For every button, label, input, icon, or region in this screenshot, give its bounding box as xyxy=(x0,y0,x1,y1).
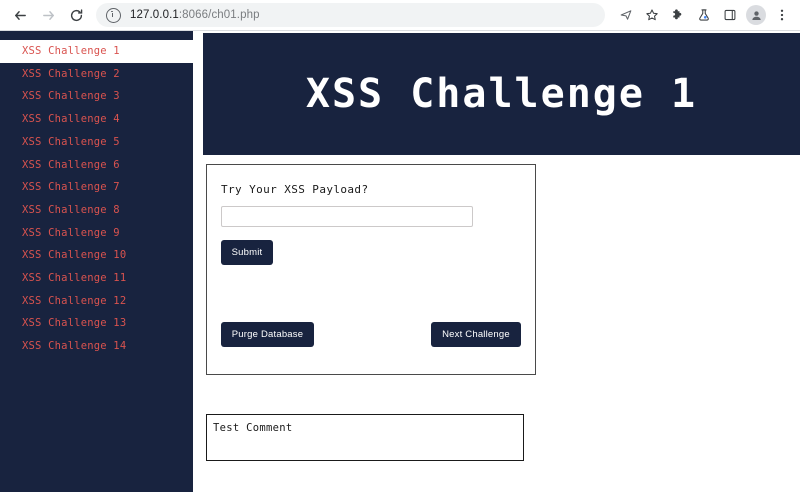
extensions-puzzle-icon[interactable] xyxy=(665,2,691,28)
avatar xyxy=(746,5,766,25)
sidebar-item-challenge-8[interactable]: XSS Challenge 8 xyxy=(0,199,193,222)
sidebar-item-challenge-11[interactable]: XSS Challenge 11 xyxy=(0,267,193,290)
sidebar-item-challenge-4[interactable]: XSS Challenge 4 xyxy=(0,108,193,131)
payload-form-label: Try Your XSS Payload? xyxy=(221,183,521,196)
browser-toolbar: 127.0.0.1:8066/ch01.php xyxy=(0,0,800,31)
form-action-row: Purge Database Next Challenge xyxy=(221,322,521,347)
forward-arrow-icon[interactable] xyxy=(34,1,62,29)
payload-input[interactable] xyxy=(221,206,473,227)
share-icon[interactable] xyxy=(613,2,639,28)
sidebar: XSS Challenge 1 XSS Challenge 2 XSS Chal… xyxy=(0,31,193,492)
sidebar-item-challenge-5[interactable]: XSS Challenge 5 xyxy=(0,131,193,154)
back-arrow-icon[interactable] xyxy=(6,1,34,29)
reload-icon[interactable] xyxy=(62,1,90,29)
bookmark-star-icon[interactable] xyxy=(639,2,665,28)
chrome-menu-icon[interactable] xyxy=(769,2,795,28)
sidebar-item-challenge-12[interactable]: XSS Challenge 12 xyxy=(0,290,193,313)
sidebar-item-challenge-10[interactable]: XSS Challenge 10 xyxy=(0,244,193,267)
page-content: XSS Challenge 1 XSS Challenge 2 XSS Chal… xyxy=(0,31,800,492)
page-title: XSS Challenge 1 xyxy=(306,71,697,117)
submit-button[interactable]: Submit xyxy=(221,240,273,265)
profile-avatar-icon[interactable] xyxy=(743,2,769,28)
sidebar-item-challenge-2[interactable]: XSS Challenge 2 xyxy=(0,63,193,86)
next-challenge-button[interactable]: Next Challenge xyxy=(431,322,521,347)
sidebar-item-challenge-3[interactable]: XSS Challenge 3 xyxy=(0,85,193,108)
comment-text: Test Comment xyxy=(213,422,517,434)
url-text: 127.0.0.1:8066/ch01.php xyxy=(130,9,260,21)
purge-database-button[interactable]: Purge Database xyxy=(221,322,314,347)
sidebar-item-challenge-6[interactable]: XSS Challenge 6 xyxy=(0,154,193,177)
side-panel-icon[interactable] xyxy=(717,2,743,28)
address-bar[interactable]: 127.0.0.1:8066/ch01.php xyxy=(96,3,605,27)
comment-output-box: Test Comment xyxy=(206,414,524,461)
sidebar-item-challenge-14[interactable]: XSS Challenge 14 xyxy=(0,335,193,358)
payload-form-card: Try Your XSS Payload? Submit Purge Datab… xyxy=(206,164,536,375)
sidebar-item-challenge-9[interactable]: XSS Challenge 9 xyxy=(0,222,193,245)
main-content: XSS Challenge 1 Try Your XSS Payload? Su… xyxy=(193,31,800,492)
toolbar-actions xyxy=(613,2,800,28)
sidebar-item-challenge-13[interactable]: XSS Challenge 13 xyxy=(0,312,193,335)
sidebar-item-challenge-1[interactable]: XSS Challenge 1 xyxy=(0,40,193,63)
site-info-icon[interactable] xyxy=(106,8,121,23)
navigation-buttons xyxy=(0,1,90,29)
experiments-flask-icon[interactable] xyxy=(691,2,717,28)
page-header-banner: XSS Challenge 1 xyxy=(203,33,800,155)
sidebar-item-challenge-7[interactable]: XSS Challenge 7 xyxy=(0,176,193,199)
